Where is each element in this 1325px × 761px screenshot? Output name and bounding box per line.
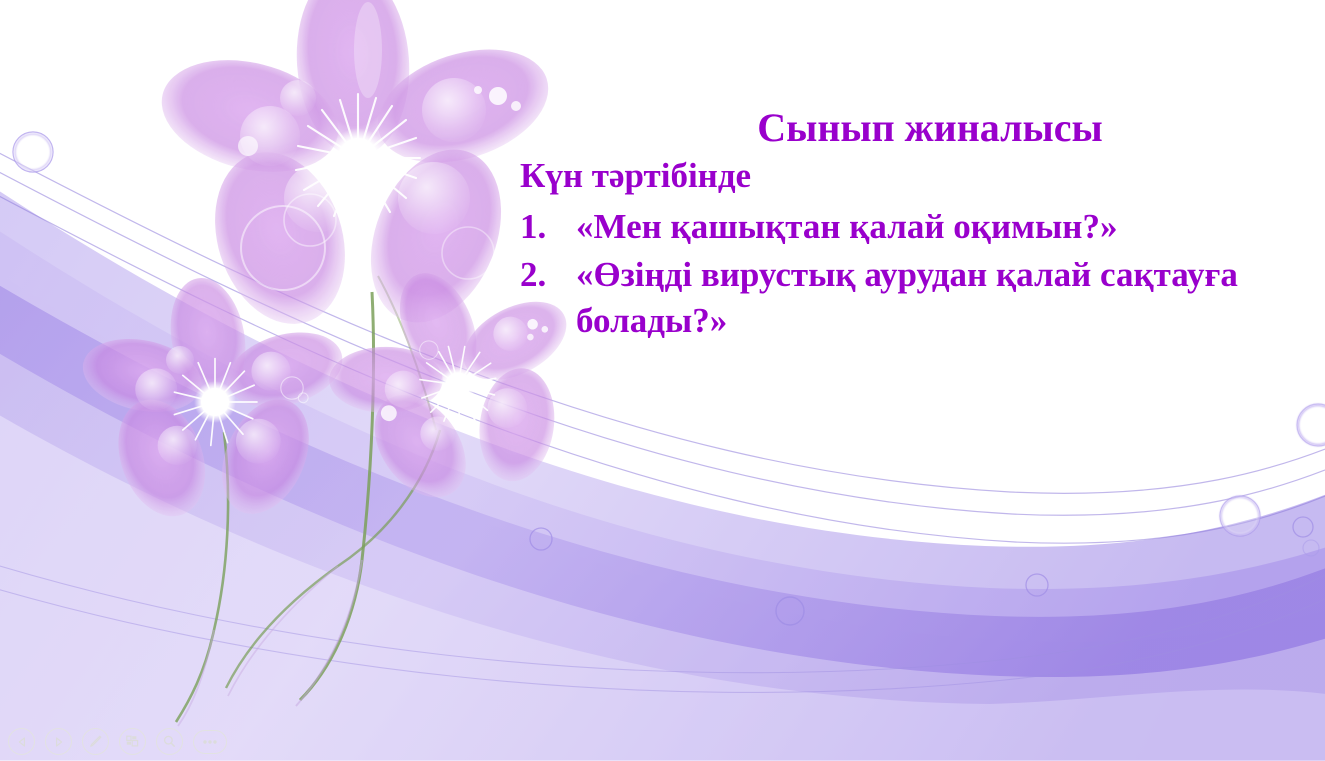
flower-main [150,0,563,342]
list-item-number: 1. [520,204,576,250]
grid-icon [125,734,140,749]
list-item: 1. «Мен қашықтан қалай оқимын?» [520,204,1310,250]
list-item-text: «Мен қашықтан қалай оқимын?» [576,204,1310,250]
slide-text-content: Сынып жиналысы Күн тәртібінде 1. «Мен қа… [520,104,1310,346]
presentation-viewer-toolbar [8,728,227,755]
triangle-left-icon [16,736,28,748]
pen-icon [88,734,103,749]
next-slide-button[interactable] [45,728,72,755]
magnifier-icon [162,734,177,749]
presentation-slide: Сынып жиналысы Күн тәртібінде 1. «Мен қа… [0,0,1325,761]
previous-slide-button[interactable] [8,728,35,755]
flower-stems [176,276,440,726]
more-options-button[interactable] [193,730,227,754]
triangle-right-icon [53,736,65,748]
list-item-number: 2. [520,252,576,298]
zoom-tool-button[interactable] [156,728,183,755]
list-item-text: «Өзіңді вирустық аурудан қалай сақтауға … [576,252,1310,344]
page-title: Сынып жиналысы [520,104,1310,151]
list-item: 2. «Өзіңді вирустық аурудан қалай сақтау… [520,252,1310,344]
slide-subtitle: Күн тәртібінде [520,155,1310,198]
ellipsis-icon [201,738,219,746]
pen-tool-button[interactable] [82,728,109,755]
agenda-list: 1. «Мен қашықтан қалай оқимын?» 2. «Өзің… [520,204,1310,345]
slide-grid-button[interactable] [119,728,146,755]
flower-left [76,272,351,528]
